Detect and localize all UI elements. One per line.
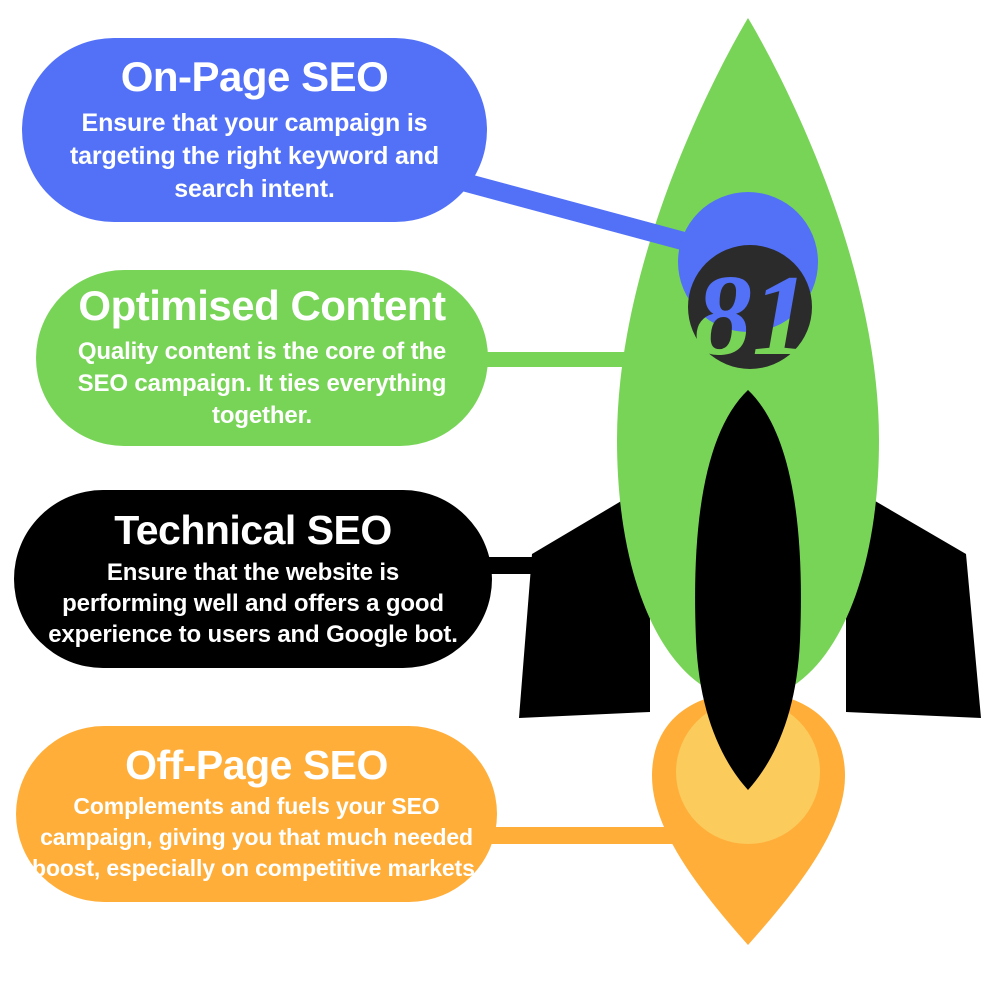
infographic-canvas: 81 On-Page SEO Ensure that your campaign… [0, 0, 1000, 1000]
card-off-page-seo-description: Complements and fuels your SEO campaign,… [30, 791, 483, 884]
card-technical-seo[interactable]: Technical SEO Ensure that the website is… [14, 490, 492, 668]
card-on-page-seo-title: On-Page SEO [121, 51, 389, 103]
card-optimised-content-description: Quality content is the core of the SEO c… [54, 336, 470, 432]
rocket-badge: 81 [688, 245, 812, 369]
card-technical-seo-title: Technical SEO [114, 505, 392, 555]
card-off-page-seo-title: Off-Page SEO [125, 740, 388, 790]
card-off-page-seo[interactable]: Off-Page SEO Complements and fuels your … [16, 726, 497, 902]
card-on-page-seo-description: Ensure that your campaign is targeting t… [48, 107, 461, 206]
card-technical-seo-description: Ensure that the website is performing we… [44, 557, 462, 650]
card-optimised-content[interactable]: Optimised Content Quality content is the… [36, 270, 488, 446]
card-optimised-content-title: Optimised Content [78, 280, 445, 332]
card-on-page-seo[interactable]: On-Page SEO Ensure that your campaign is… [22, 38, 487, 222]
